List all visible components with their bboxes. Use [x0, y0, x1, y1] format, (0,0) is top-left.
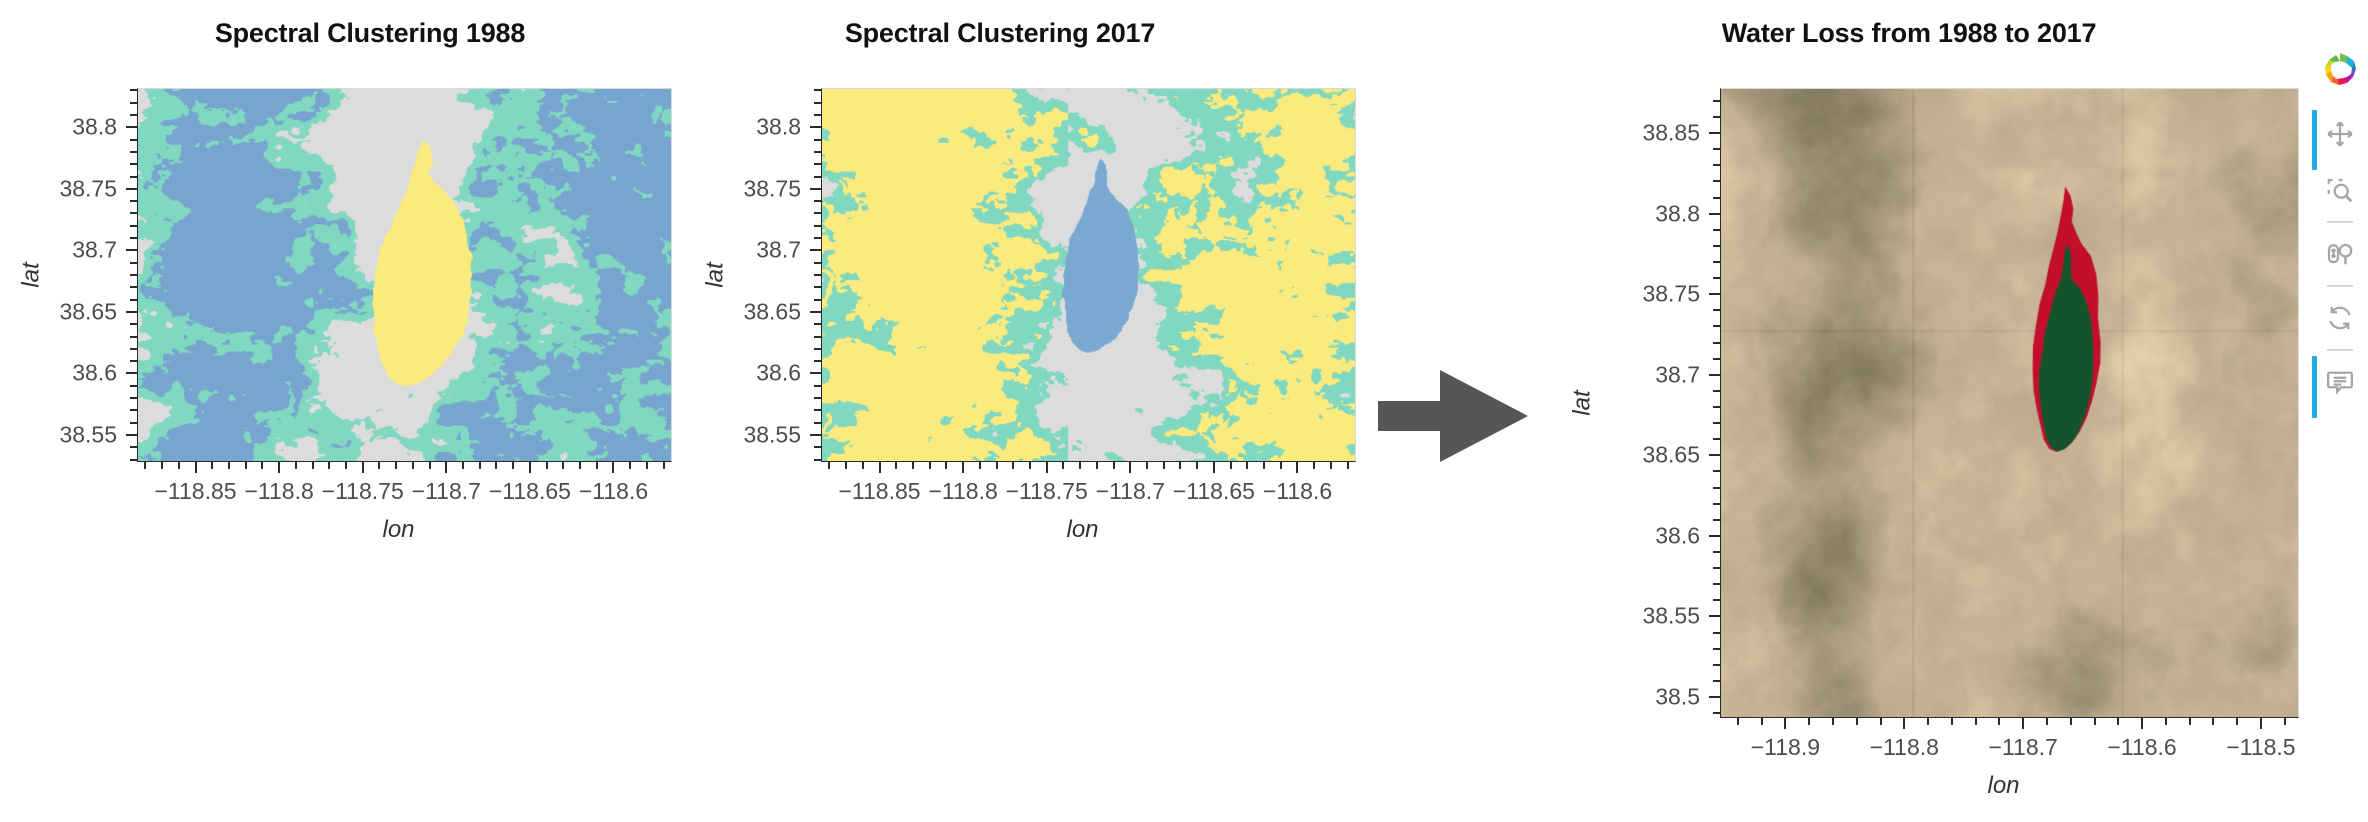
y-tick-mark [126, 249, 137, 251]
y-minor-tick [1713, 342, 1720, 344]
y-tick-label: 38.8 [0, 114, 117, 141]
y-minor-tick [814, 274, 821, 276]
y-minor-tick [1713, 100, 1720, 102]
y-tick-mark [810, 126, 821, 128]
x-tick-label: −118.6 [579, 478, 648, 505]
wheel-zoom-tool-button[interactable] [2318, 232, 2362, 276]
bokeh-logo-icon[interactable] [2320, 50, 2360, 90]
y-minor-tick [130, 323, 137, 325]
x-minor-tick [2212, 718, 2214, 725]
y-minor-tick [1713, 583, 1720, 585]
x-minor-tick [1096, 462, 1098, 469]
y-axis-label-water-loss: lat [1569, 390, 1597, 415]
y-axis-label-2017: lat [702, 262, 730, 287]
x-tick-mark [1046, 462, 1048, 473]
y-minor-tick [814, 446, 821, 448]
y-minor-tick [814, 360, 821, 362]
y-tick-mark [1709, 293, 1720, 295]
y-minor-tick [814, 237, 821, 239]
y-tick-label: 38.6 [1540, 522, 1700, 549]
panel-title-water-loss: Water Loss from 1988 to 2017 [1600, 18, 2218, 49]
panel-title-2017: Spectral Clustering 2017 [700, 18, 1300, 49]
x-minor-tick [2046, 718, 2048, 725]
x-minor-tick [1313, 462, 1315, 469]
x-minor-tick [1808, 718, 1810, 725]
x-minor-tick [1029, 462, 1031, 469]
x-minor-tick [1951, 718, 1953, 725]
y-tick-mark [126, 372, 137, 374]
x-minor-tick [2165, 718, 2167, 725]
x-minor-tick [1330, 462, 1332, 469]
y-tick-mark [1709, 696, 1720, 698]
x-minor-tick [1079, 462, 1081, 469]
x-minor-tick [345, 462, 347, 469]
x-tick-label: −118.8 [1870, 734, 1939, 761]
hover-tool-active-indicator [2312, 356, 2317, 418]
x-tick-mark [445, 462, 447, 473]
x-minor-tick [2236, 718, 2238, 725]
x-tick-label: −118.65 [1173, 478, 1255, 505]
y-tick-label: 38.55 [0, 421, 117, 448]
x-minor-tick [429, 462, 431, 469]
y-minor-tick [814, 459, 821, 461]
y-tick-label: 38.65 [0, 298, 117, 325]
x-minor-tick [161, 462, 163, 469]
x-minor-tick [144, 462, 146, 469]
x-minor-tick [295, 462, 297, 469]
x-minor-tick [1196, 462, 1198, 469]
satellite-water-loss-map [1721, 89, 2298, 717]
x-tick-label: −118.6 [2107, 734, 2176, 761]
x-minor-tick [2117, 718, 2119, 725]
y-minor-tick [1713, 406, 1720, 408]
x-minor-tick [178, 462, 180, 469]
panel-title-1988: Spectral Clustering 1988 [40, 18, 700, 49]
y-tick-label: 38.6 [0, 360, 117, 387]
bokeh-toolbar[interactable] [2312, 50, 2368, 410]
y-minor-tick [1713, 261, 1720, 263]
plot-area-2017[interactable] [821, 88, 1356, 462]
x-tick-mark [362, 462, 364, 473]
y-tick-label: 38.75 [1540, 281, 1700, 308]
x-minor-tick [1927, 718, 1929, 725]
y-minor-tick [1713, 309, 1720, 311]
x-minor-tick [2070, 718, 2072, 725]
x-tick-mark [2141, 718, 2143, 729]
y-minor-tick [130, 237, 137, 239]
y-minor-tick [130, 139, 137, 141]
y-minor-tick [130, 360, 137, 362]
y-minor-tick [1713, 325, 1720, 327]
y-tick-mark [126, 311, 137, 313]
x-minor-tick [945, 462, 947, 469]
y-minor-tick [130, 274, 137, 276]
y-minor-tick [814, 299, 821, 301]
y-tick-label: 38.55 [700, 421, 801, 448]
x-tick-label: −118.7 [1096, 478, 1165, 505]
y-minor-tick [814, 212, 821, 214]
x-minor-tick [312, 462, 314, 469]
figure-canvas: Spectral Clustering 1988 lat lon 38.838.… [0, 0, 2368, 822]
y-tick-label: 38.8 [700, 114, 801, 141]
reset-tool-button[interactable] [2318, 296, 2362, 340]
cluster-map-2017 [822, 89, 1355, 461]
x-tick-mark [1903, 718, 1905, 729]
y-minor-tick [130, 262, 137, 264]
y-tick-label: 38.75 [0, 175, 117, 202]
y-minor-tick [1713, 470, 1720, 472]
y-tick-label: 38.75 [700, 175, 801, 202]
y-minor-tick [1713, 390, 1720, 392]
x-minor-tick [2284, 718, 2286, 725]
y-minor-tick [130, 176, 137, 178]
y-minor-tick [814, 286, 821, 288]
x-axis-label-2017: lon [1067, 516, 1099, 544]
panel-spectral-clustering-1988: Spectral Clustering 1988 lat lon 38.838.… [0, 0, 700, 822]
box-zoom-tool-button[interactable] [2318, 168, 2362, 212]
x-minor-tick [1998, 718, 2000, 725]
y-tick-mark [126, 126, 137, 128]
x-tick-label: −118.8 [244, 478, 313, 505]
x-tick-label: −118.6 [1263, 478, 1332, 505]
y-minor-tick [130, 200, 137, 202]
x-axis-label-water-loss: lon [1988, 772, 2020, 800]
toolbar-divider [2327, 349, 2353, 351]
y-tick-label: 38.6 [700, 360, 801, 387]
y-minor-tick [814, 336, 821, 338]
y-minor-tick [814, 385, 821, 387]
x-minor-tick [579, 462, 581, 469]
panel-spectral-clustering-2017: Spectral Clustering 2017 lat lon 38.838.… [700, 0, 1360, 822]
x-minor-tick [2094, 718, 2096, 725]
y-minor-tick [130, 163, 137, 165]
hover-tool-button[interactable] [2318, 360, 2362, 404]
y-minor-tick [130, 336, 137, 338]
x-tick-mark [278, 462, 280, 473]
y-minor-tick [1713, 503, 1720, 505]
y-minor-tick [1713, 438, 1720, 440]
y-tick-label: 38.55 [1540, 603, 1700, 630]
y-tick-mark [810, 311, 821, 313]
y-minor-tick [814, 397, 821, 399]
x-minor-tick [228, 462, 230, 469]
y-tick-mark [1709, 454, 1720, 456]
y-minor-tick [130, 422, 137, 424]
x-minor-tick [546, 462, 548, 469]
y-tick-mark [810, 188, 821, 190]
x-minor-tick [596, 462, 598, 469]
x-minor-tick [646, 462, 648, 469]
y-tick-mark [810, 372, 821, 374]
x-tick-mark [879, 462, 881, 473]
y-minor-tick [130, 286, 137, 288]
x-minor-tick [1146, 462, 1148, 469]
x-minor-tick [261, 462, 263, 469]
x-minor-tick [378, 462, 380, 469]
x-tick-mark [529, 462, 531, 473]
x-tick-label: −118.85 [838, 478, 920, 505]
y-tick-mark [1709, 132, 1720, 134]
x-tick-mark [2260, 718, 2262, 729]
y-tick-label: 38.7 [1540, 361, 1700, 388]
y-minor-tick [1713, 358, 1720, 360]
y-minor-tick [814, 200, 821, 202]
y-tick-mark [810, 249, 821, 251]
y-tick-label: 38.5 [1540, 684, 1700, 711]
x-minor-tick [1263, 462, 1265, 469]
x-minor-tick [828, 462, 830, 469]
x-minor-tick [562, 462, 564, 469]
x-tick-label: −118.75 [322, 478, 404, 505]
plot-area-water-loss[interactable] [1720, 88, 2299, 718]
y-axis-label-1988: lat [18, 262, 46, 287]
y-tick-mark [1709, 615, 1720, 617]
y-minor-tick [1713, 245, 1720, 247]
x-minor-tick [1280, 462, 1282, 469]
y-minor-tick [814, 163, 821, 165]
y-tick-label: 38.85 [1540, 120, 1700, 147]
x-minor-tick [1113, 462, 1115, 469]
x-tick-label: −118.7 [1989, 734, 2058, 761]
plot-area-1988[interactable] [137, 88, 672, 462]
y-minor-tick [130, 212, 137, 214]
x-minor-tick [663, 462, 665, 469]
y-minor-tick [1713, 116, 1720, 118]
y-minor-tick [1713, 422, 1720, 424]
x-tick-mark [195, 462, 197, 473]
x-minor-tick [1761, 718, 1763, 725]
x-tick-mark [962, 462, 964, 473]
y-minor-tick [130, 409, 137, 411]
x-minor-tick [462, 462, 464, 469]
y-tick-mark [126, 188, 137, 190]
toolbar-divider [2327, 285, 2353, 287]
x-axis-label-1988: lon [383, 516, 415, 544]
x-minor-tick [895, 462, 897, 469]
cluster-map-1988 [138, 89, 671, 461]
y-minor-tick [1713, 680, 1720, 682]
x-minor-tick [1012, 462, 1014, 469]
x-tick-label: −118.9 [1751, 734, 1820, 761]
x-minor-tick [1880, 718, 1882, 725]
x-minor-tick [2189, 718, 2191, 725]
y-minor-tick [1713, 648, 1720, 650]
y-minor-tick [130, 446, 137, 448]
transition-arrow [1378, 368, 1528, 464]
x-minor-tick [1179, 462, 1181, 469]
y-minor-tick [130, 225, 137, 227]
y-minor-tick [1713, 664, 1720, 666]
x-minor-tick [1832, 718, 1834, 725]
y-minor-tick [1713, 229, 1720, 231]
x-minor-tick [245, 462, 247, 469]
x-minor-tick [512, 462, 514, 469]
x-tick-mark [1129, 462, 1131, 473]
y-minor-tick [130, 385, 137, 387]
y-tick-label: 38.65 [700, 298, 801, 325]
x-minor-tick [1347, 462, 1349, 469]
x-minor-tick [1246, 462, 1248, 469]
y-minor-tick [814, 409, 821, 411]
pan-tool-button[interactable] [2318, 112, 2362, 156]
x-minor-tick [211, 462, 213, 469]
x-minor-tick [845, 462, 847, 469]
x-minor-tick [1062, 462, 1064, 469]
x-minor-tick [929, 462, 931, 469]
y-tick-mark [1709, 213, 1720, 215]
y-minor-tick [130, 151, 137, 153]
y-tick-mark [126, 434, 137, 436]
toolbar-divider [2327, 221, 2353, 223]
panel-water-loss: Water Loss from 1988 to 2017 lat lon [1540, 0, 2368, 822]
y-minor-tick [1713, 277, 1720, 279]
x-minor-tick [1975, 718, 1977, 725]
y-minor-tick [1713, 487, 1720, 489]
x-minor-tick [328, 462, 330, 469]
x-minor-tick [412, 462, 414, 469]
y-minor-tick [1713, 164, 1720, 166]
y-tick-label: 38.65 [1540, 442, 1700, 469]
y-minor-tick [814, 151, 821, 153]
y-minor-tick [814, 89, 821, 91]
x-minor-tick [862, 462, 864, 469]
x-tick-label: −118.65 [489, 478, 571, 505]
y-tick-label: 38.8 [1540, 200, 1700, 227]
x-tick-label: −118.5 [2226, 734, 2295, 761]
x-minor-tick [1230, 462, 1232, 469]
x-minor-tick [979, 462, 981, 469]
y-minor-tick [814, 348, 821, 350]
y-minor-tick [130, 459, 137, 461]
x-minor-tick [629, 462, 631, 469]
y-minor-tick [1713, 599, 1720, 601]
y-minor-tick [130, 89, 137, 91]
y-minor-tick [1713, 567, 1720, 569]
y-minor-tick [130, 348, 137, 350]
x-minor-tick [479, 462, 481, 469]
x-minor-tick [395, 462, 397, 469]
x-tick-label: −118.85 [154, 478, 236, 505]
x-minor-tick [1163, 462, 1165, 469]
y-minor-tick [1713, 712, 1720, 714]
x-tick-label: −118.7 [412, 478, 481, 505]
y-minor-tick [130, 397, 137, 399]
y-tick-mark [810, 434, 821, 436]
y-tick-label: 38.7 [700, 237, 801, 264]
y-minor-tick [814, 323, 821, 325]
y-minor-tick [814, 114, 821, 116]
y-minor-tick [1713, 519, 1720, 521]
x-tick-mark [1784, 718, 1786, 729]
y-tick-mark [1709, 374, 1720, 376]
y-minor-tick [130, 102, 137, 104]
y-minor-tick [814, 102, 821, 104]
x-tick-mark [2022, 718, 2024, 729]
y-minor-tick [130, 299, 137, 301]
y-minor-tick [130, 114, 137, 116]
x-minor-tick [1737, 718, 1739, 725]
y-minor-tick [814, 176, 821, 178]
x-tick-label: −118.75 [1006, 478, 1088, 505]
y-minor-tick [1713, 632, 1720, 634]
y-minor-tick [814, 422, 821, 424]
y-tick-label: 38.7 [0, 237, 117, 264]
y-minor-tick [814, 225, 821, 227]
x-minor-tick [495, 462, 497, 469]
y-minor-tick [1713, 551, 1720, 553]
x-minor-tick [996, 462, 998, 469]
y-minor-tick [1713, 197, 1720, 199]
x-tick-label: −118.8 [928, 478, 997, 505]
y-minor-tick [814, 139, 821, 141]
x-tick-mark [612, 462, 614, 473]
y-minor-tick [1713, 148, 1720, 150]
x-tick-mark [1213, 462, 1215, 473]
x-minor-tick [912, 462, 914, 469]
y-minor-tick [814, 262, 821, 264]
y-tick-mark [1709, 535, 1720, 537]
x-minor-tick [1856, 718, 1858, 725]
x-tick-mark [1296, 462, 1298, 473]
pan-tool-active-indicator [2312, 110, 2317, 170]
y-minor-tick [1713, 180, 1720, 182]
